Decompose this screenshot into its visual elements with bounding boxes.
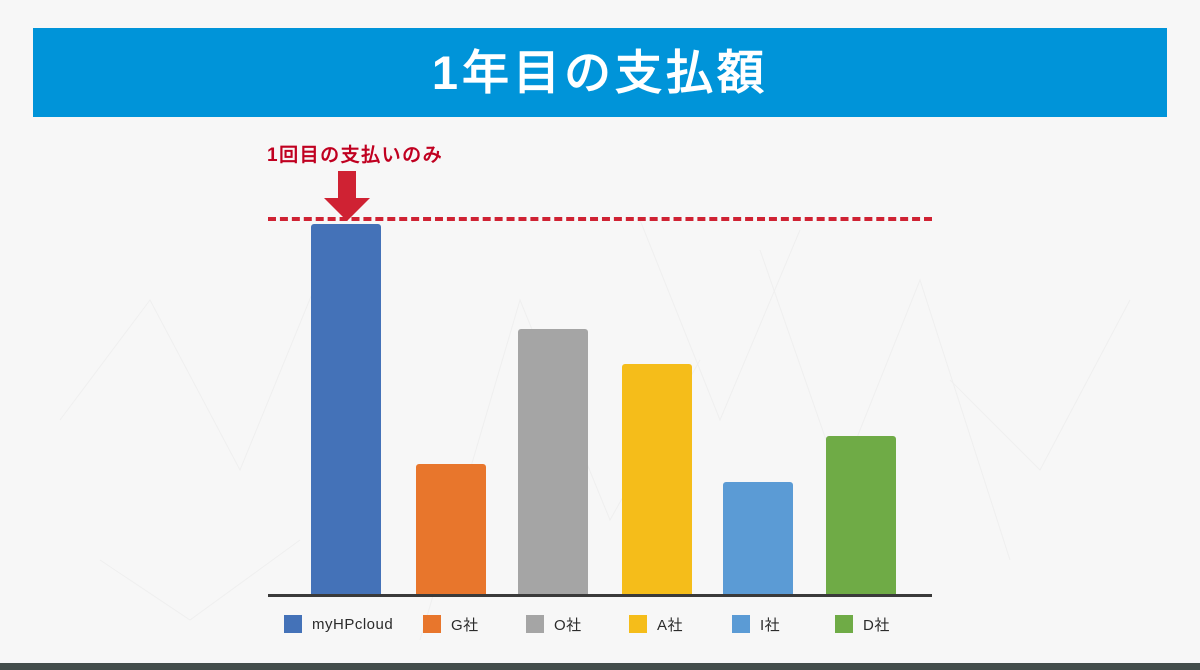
bottom-status-bar	[0, 663, 1200, 670]
legend-item-label: G社	[451, 614, 479, 635]
chart-bar	[518, 329, 588, 595]
legend-color-swatch	[284, 615, 302, 633]
chart-bar	[311, 224, 381, 595]
reference-dashed-line	[268, 217, 932, 221]
legend-item[interactable]: O社	[526, 612, 582, 636]
legend-color-swatch	[423, 615, 441, 633]
chart-legend: myHPcloudG社O社A社I社D社	[268, 612, 932, 636]
legend-item[interactable]: myHPcloud	[284, 612, 393, 636]
legend-item-label: A社	[657, 614, 683, 635]
legend-item-label: I社	[760, 614, 780, 635]
legend-color-swatch	[732, 615, 750, 633]
chart-bar	[622, 364, 692, 595]
chart-bar	[723, 482, 793, 595]
legend-item[interactable]: G社	[423, 612, 479, 636]
legend-color-swatch	[629, 615, 647, 633]
bar-chart-plot	[268, 224, 932, 595]
title-banner: 1年目の支払額	[33, 28, 1167, 117]
legend-item-label: D社	[863, 614, 890, 635]
chart-axis-line	[268, 594, 932, 597]
legend-item-label: myHPcloud	[312, 616, 393, 633]
legend-color-swatch	[526, 615, 544, 633]
annotation-label: 1回目の支払いのみ	[267, 140, 443, 167]
slide-canvas: 1年目の支払額 1回目の支払いのみ myHPcloudG社O社A社I社D社	[0, 0, 1200, 670]
chart-bar	[826, 436, 896, 595]
legend-color-swatch	[835, 615, 853, 633]
legend-item[interactable]: D社	[835, 612, 890, 636]
page-title: 1年目の支払額	[432, 49, 768, 96]
legend-item[interactable]: I社	[732, 612, 780, 636]
chart-bar	[416, 464, 486, 595]
arrow-down-icon	[324, 171, 370, 221]
legend-item-label: O社	[554, 614, 582, 635]
legend-item[interactable]: A社	[629, 612, 683, 636]
